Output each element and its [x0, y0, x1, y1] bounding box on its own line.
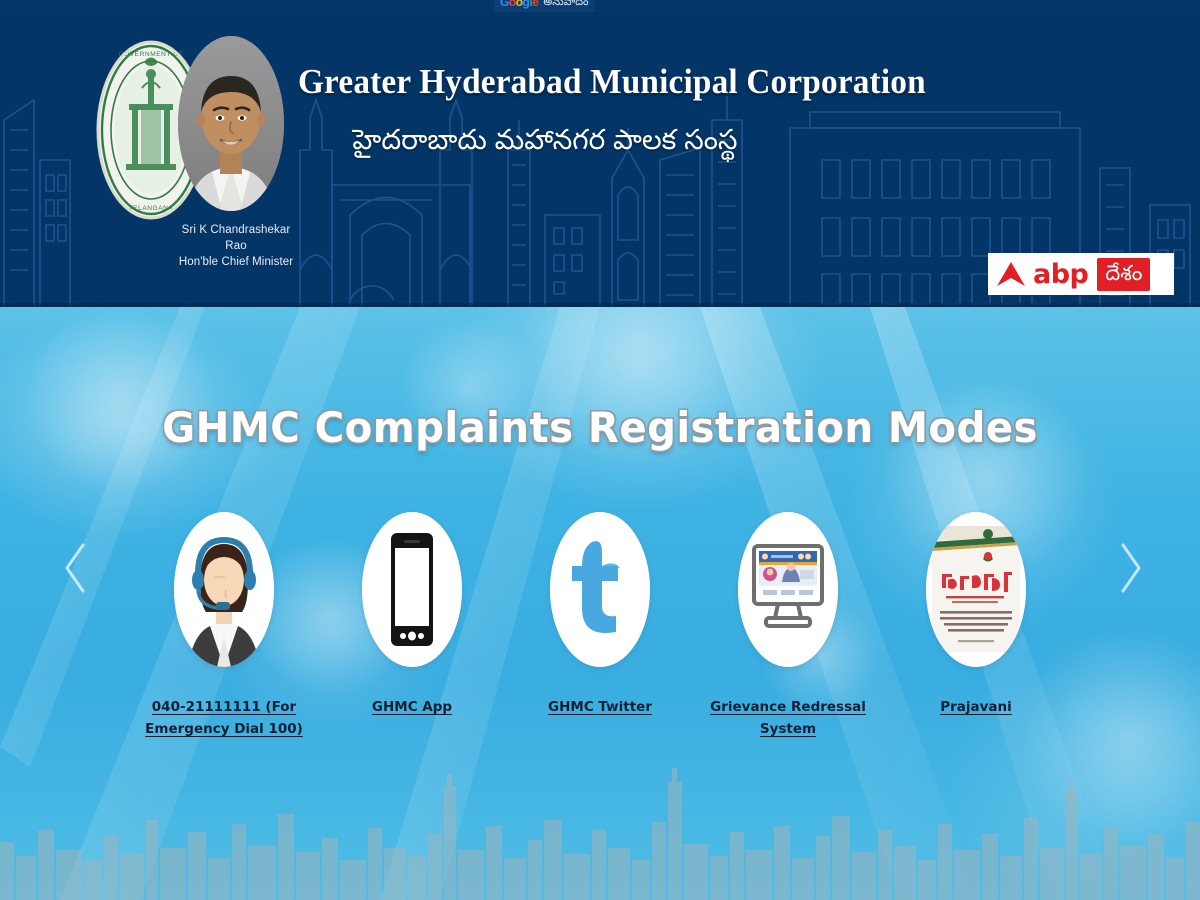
hero-title: GHMC Complaints Registration Modes [24, 403, 1176, 453]
page-root: GOVERNMENT OF TELANGANA [0, 0, 1200, 900]
cm-name-line-2: Rao [140, 238, 332, 254]
prajavani-poster-icon [926, 512, 1026, 667]
google-translate-language-label: అనువాదం [543, 0, 588, 8]
headset-operator-icon [174, 512, 274, 667]
chief-minister-caption: Sri K Chandrashekar Rao Hon'ble Chief Mi… [140, 222, 332, 270]
cm-designation: Hon'ble Chief Minister [140, 254, 332, 270]
abp-desam-logo: abp దేశం [988, 253, 1174, 295]
hero-slider: GHMC Complaints Registration Modes [0, 307, 1200, 900]
twitter-icon [550, 512, 650, 667]
site-header-banner: GOVERNMENT OF TELANGANA [0, 0, 1200, 307]
site-title-telugu: హైదరాబాదు మహానగర పాలక సంస్థ [285, 120, 805, 160]
mode-item-ghmc-twitter[interactable]: GHMC Twitter [506, 512, 694, 718]
abp-arrow-icon [996, 261, 1026, 287]
mode-item-call-center[interactable]: 040-21111111 (For Emergency Dial 100) [130, 512, 318, 740]
complaint-modes-list: 040-21111111 (For Emergency Dial 100) G [0, 512, 1200, 740]
chief-minister-portrait-icon [178, 36, 284, 211]
abp-edition-badge: దేశం [1097, 258, 1150, 291]
mode-item-prajavani[interactable]: Prajavani [882, 512, 1070, 718]
svg-text:TELANGANA: TELANGANA [129, 205, 174, 212]
google-translate-widget[interactable]: Google అనువాదం [494, 0, 595, 12]
cm-name-line-1: Sri K Chandrashekar [140, 222, 332, 238]
mode-label-grievance-redressal-system: Grievance Redressal System [703, 696, 873, 740]
mode-label-call-center: 040-21111111 (For Emergency Dial 100) [139, 696, 309, 740]
mode-item-grievance-redressal-system[interactable]: Grievance Redressal System [694, 512, 882, 740]
mode-item-ghmc-app[interactable]: GHMC App [318, 512, 506, 718]
google-translate-bar[interactable]: Google అనువాదం [0, 0, 1200, 12]
desktop-monitor-icon [738, 512, 838, 667]
chevron-left-icon[interactable] [58, 539, 92, 597]
abp-wordmark: abp [1033, 261, 1088, 288]
city-skyline-silhouette-icon [0, 760, 1200, 900]
google-logo: Google [500, 0, 538, 8]
mode-label-ghmc-twitter: GHMC Twitter [548, 696, 652, 718]
smartphone-icon [362, 512, 462, 667]
chevron-right-icon[interactable] [1114, 539, 1148, 597]
mode-label-prajavani: Prajavani [940, 696, 1012, 718]
mode-label-ghmc-app: GHMC App [372, 696, 452, 718]
site-title-english: Greater Hyderabad Municipal Corporation [298, 62, 792, 102]
